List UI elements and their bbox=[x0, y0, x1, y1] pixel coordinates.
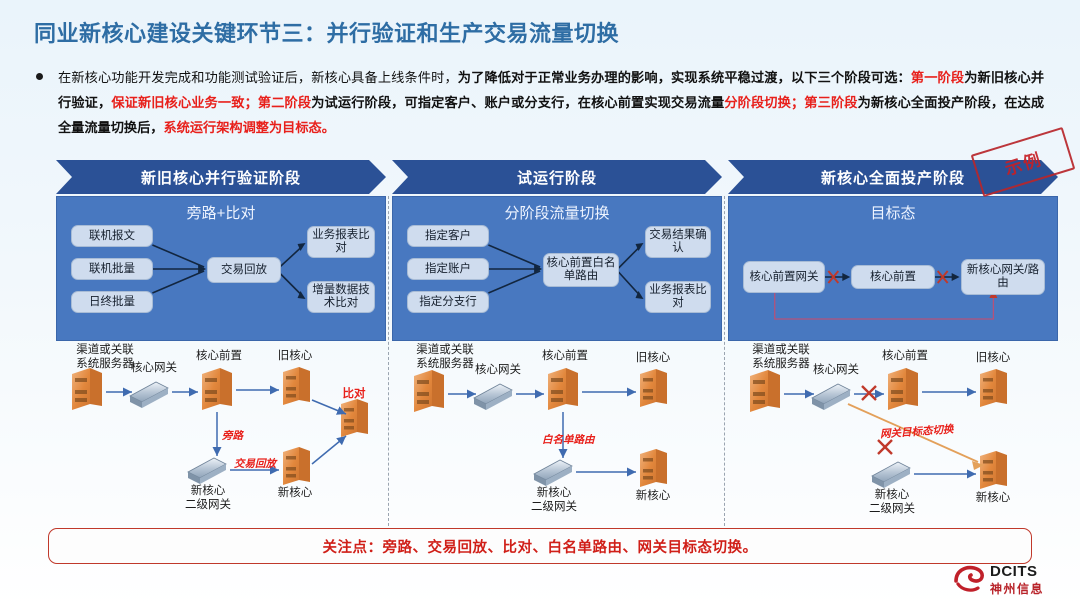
flow-box-2: 分阶段流量切换 指定客户 指定账户 指定分支行 核心前置白名单路由 交易结果确认… bbox=[392, 196, 722, 341]
flow-node-output-2a[interactable]: 交易结果确认 bbox=[645, 226, 711, 258]
server-icon-new-core bbox=[283, 447, 310, 485]
server-label-compare-1: 比对 bbox=[326, 388, 382, 402]
logo-text-cn: 神州信息 bbox=[990, 580, 1044, 597]
server-icon-old-core bbox=[283, 367, 310, 405]
phase-header-2[interactable]: 试运行阶段 bbox=[392, 160, 722, 194]
server-icon-source bbox=[72, 368, 102, 410]
server-icon-new-core bbox=[980, 451, 1007, 489]
flow-node-input-2a[interactable]: 指定客户 bbox=[407, 225, 489, 247]
slide-root: 同业新核心建设关键环节三：并行验证和生产交易流量切换 在新核心功能开发完成和功能… bbox=[0, 0, 1080, 608]
flow-node-chain-3a[interactable]: 核心前置网关 bbox=[743, 261, 825, 293]
server-icon-frontend bbox=[888, 368, 918, 410]
server-diagram-1: 渠道或关联 系统服务器 核心网关 核心前置 旧核心 新核心 二级网关 新核心 比… bbox=[56, 344, 386, 526]
column-divider-2 bbox=[724, 196, 725, 526]
flow-node-chain-3b[interactable]: 核心前置 bbox=[851, 265, 935, 289]
gateway-icon-new-secondary bbox=[188, 458, 226, 484]
flow-node-input-1b[interactable]: 联机批量 bbox=[71, 258, 153, 280]
para-seg-8: 第三阶段 bbox=[804, 95, 857, 110]
server-icon-compare bbox=[341, 399, 368, 437]
bullet-dot-icon bbox=[36, 73, 43, 80]
flow-node-output-1b[interactable]: 增量数据技术比对 bbox=[307, 281, 375, 313]
para-seg-2: 第一阶段 bbox=[911, 70, 964, 85]
company-logo: DCITS 神州信息 bbox=[952, 562, 1076, 602]
para-seg-0: 在新核心功能开发完成和功能测试验证后，新核心具备上线条件时， bbox=[58, 70, 458, 85]
flow-node-input-1a[interactable]: 联机报文 bbox=[71, 225, 153, 247]
server-label-frontend-2: 核心前置 bbox=[530, 350, 600, 364]
server-label-frontend-1: 核心前置 bbox=[184, 350, 254, 364]
annotation-whitelist-2: 白名单路由 bbox=[542, 432, 595, 447]
server-icon-source bbox=[750, 370, 780, 412]
intro-paragraph: 在新核心功能开发完成和功能测试验证后，新核心具备上线条件时，为了降低对于正常业务… bbox=[58, 65, 1044, 140]
para-seg-6: 为试运行阶段，可指定客户、账户或分支行，在核心前置实现交易流量 bbox=[311, 95, 724, 110]
flow-node-chain-3c[interactable]: 新核心网关/路由 bbox=[961, 259, 1045, 295]
column-divider-1 bbox=[388, 196, 389, 526]
gateway-icon-new-secondary bbox=[534, 460, 572, 486]
server-label-frontend-3: 核心前置 bbox=[870, 350, 940, 364]
annotation-bypass-1: 旁路 bbox=[222, 428, 243, 443]
server-label-new-core-1: 新核心 bbox=[260, 487, 330, 501]
flow-node-input-1c[interactable]: 日终批量 bbox=[71, 291, 153, 313]
gateway-icon-core bbox=[812, 384, 850, 410]
para-seg-7: 分阶段切换； bbox=[724, 95, 804, 110]
server-diagram-2: 渠道或关联 系统服务器 核心网关 核心前置 旧核心 新核心 二级网关 新核心 白… bbox=[392, 344, 722, 526]
para-seg-1: 为了降低对于正常业务办理的影响，实现系统平稳过渡，以下三个阶段可选： bbox=[458, 70, 911, 85]
server-label-new-gateway-3: 新核心 二级网关 bbox=[852, 489, 932, 516]
server-label-new-core-3: 新核心 bbox=[958, 492, 1028, 506]
flow-node-center-2[interactable]: 核心前置白名单路由 bbox=[543, 253, 619, 287]
gateway-icon-core bbox=[474, 384, 512, 410]
flow-node-input-2b[interactable]: 指定账户 bbox=[407, 258, 489, 280]
para-seg-10: 系统运行架构调整为目标态。 bbox=[164, 120, 335, 135]
flow-box-3: 目标态 核心前置网关 核心前 bbox=[728, 196, 1058, 341]
para-seg-4: 保证新旧核心业务一致； bbox=[111, 95, 257, 110]
phase-column-2: 分阶段流量切换 指定客户 指定账户 指定分支行 核心前置白名单路由 交易结果确认… bbox=[392, 196, 722, 526]
intro-paragraph-block: 在新核心功能开发完成和功能测试验证后，新核心具备上线条件时，为了降低对于正常业务… bbox=[36, 65, 1044, 140]
server-label-gateway-2: 核心网关 bbox=[462, 364, 534, 378]
key-points-callout: 关注点：旁路、交易回放、比对、白名单路由、网关目标态切换。 bbox=[48, 528, 1032, 564]
server-icon-old-core bbox=[640, 369, 667, 407]
server-diagram-3: 渠道或关联 系统服务器 核心网关 核心前置 旧核心 新核心 二级网关 新核心 网… bbox=[728, 344, 1058, 526]
server-label-new-core-2: 新核心 bbox=[618, 490, 688, 504]
phase-column-3: 目标态 核心前置网关 核心前 bbox=[728, 196, 1058, 526]
flow-node-output-2b[interactable]: 业务报表比对 bbox=[645, 281, 711, 313]
dcits-swirl-icon bbox=[952, 564, 986, 594]
logo-text-en: DCITS bbox=[990, 563, 1038, 580]
flow-node-output-1a[interactable]: 业务报表比对 bbox=[307, 226, 375, 258]
server-label-gateway-3: 核心网关 bbox=[800, 364, 872, 378]
server-icon-frontend bbox=[548, 368, 578, 410]
page-title: 同业新核心建设关键环节三：并行验证和生产交易流量切换 bbox=[34, 16, 619, 48]
flow-node-input-2c[interactable]: 指定分支行 bbox=[407, 291, 489, 313]
gateway-icon-new-secondary bbox=[872, 462, 910, 488]
gateway-icon-core bbox=[130, 382, 168, 408]
phase-column-1: 旁路+比对 联机报文 联机批量 日终批量 交易回放 业务报表比对 增量数据技术比… bbox=[56, 196, 386, 526]
server-icon-old-core bbox=[980, 369, 1007, 407]
server-label-old-core-2: 旧核心 bbox=[622, 352, 684, 366]
server-label-new-gateway-2: 新核心 二级网关 bbox=[514, 487, 594, 514]
server-icon-frontend bbox=[202, 368, 232, 410]
flow-node-center-1[interactable]: 交易回放 bbox=[207, 257, 281, 283]
para-seg-5: 第二阶段 bbox=[258, 95, 311, 110]
flow-box-1: 旁路+比对 联机报文 联机批量 日终批量 交易回放 业务报表比对 增量数据技术比… bbox=[56, 196, 386, 341]
annotation-replay-1: 交易回放 bbox=[234, 456, 276, 471]
server-label-old-core-1: 旧核心 bbox=[264, 350, 326, 364]
server-icon-new-core bbox=[640, 449, 667, 487]
cross-marks-3 bbox=[862, 386, 892, 454]
server-icon-source bbox=[414, 370, 444, 412]
phase-header-1[interactable]: 新旧核心并行验证阶段 bbox=[56, 160, 386, 194]
server-label-new-gateway-1: 新核心 二级网关 bbox=[168, 485, 248, 512]
server-label-gateway-1: 核心网关 bbox=[118, 362, 190, 376]
server-label-old-core-3: 旧核心 bbox=[962, 352, 1024, 366]
